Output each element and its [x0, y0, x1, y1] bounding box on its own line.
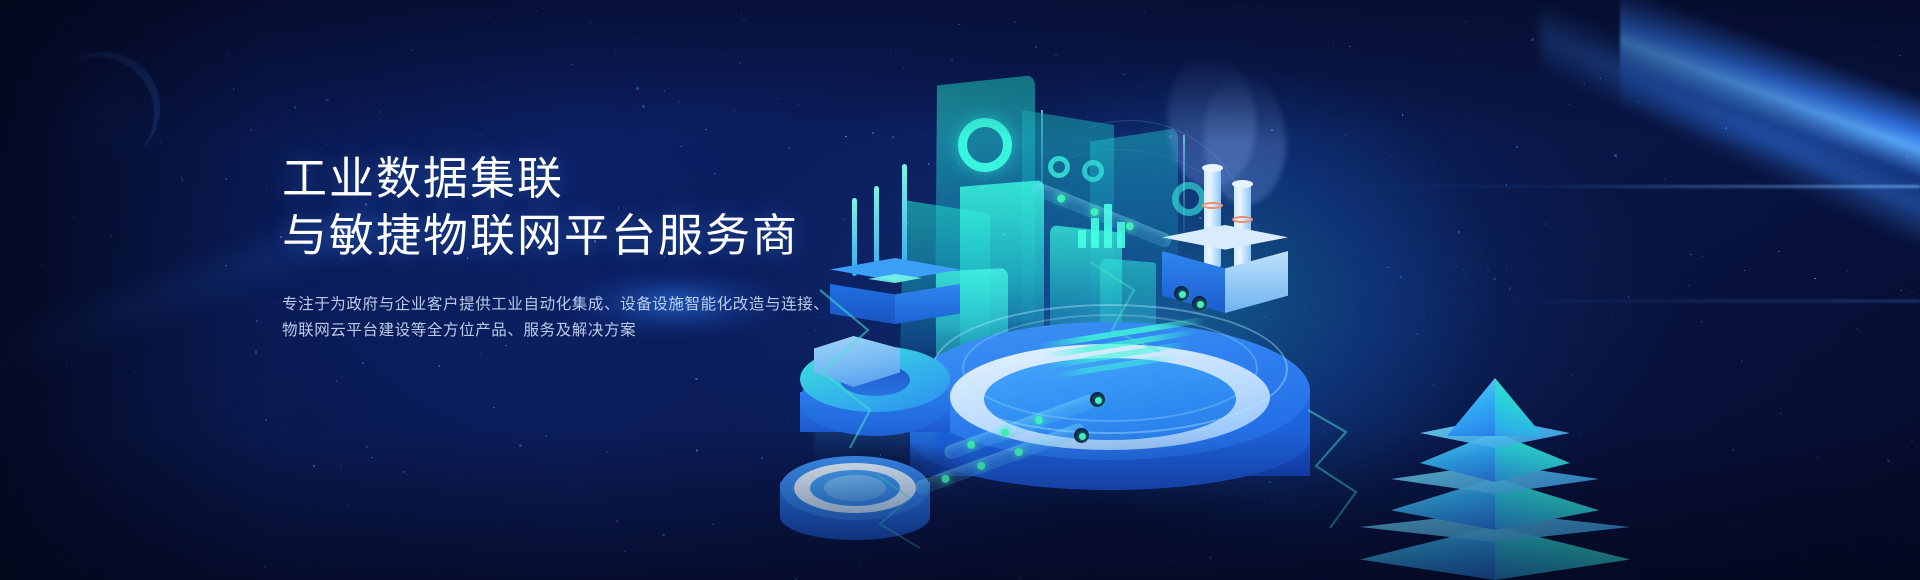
subtitle-line-2: 物联网云平台建设等全方位产品、服务及解决方案 [282, 318, 902, 344]
hero-banner: 工业数据集联 与敏捷物联网平台服务商 专注于为政府与企业客户提供工业自动化集成、… [0, 0, 1920, 580]
subtitle-line-1: 专注于为政府与企业客户提供工业自动化集成、设备设施智能化改造与连接、 [282, 292, 902, 318]
hero-subtitle: 专注于为政府与企业客户提供工业自动化集成、设备设施智能化改造与连接、 物联网云平… [282, 292, 902, 344]
headline-line-1: 工业数据集联 [282, 150, 902, 207]
hero-copy: 工业数据集联 与敏捷物联网平台服务商 专注于为政府与企业客户提供工业自动化集成、… [282, 150, 902, 344]
headline-line-2: 与敏捷物联网平台服务商 [282, 207, 902, 264]
page-title: 工业数据集联 与敏捷物联网平台服务商 [282, 150, 902, 264]
